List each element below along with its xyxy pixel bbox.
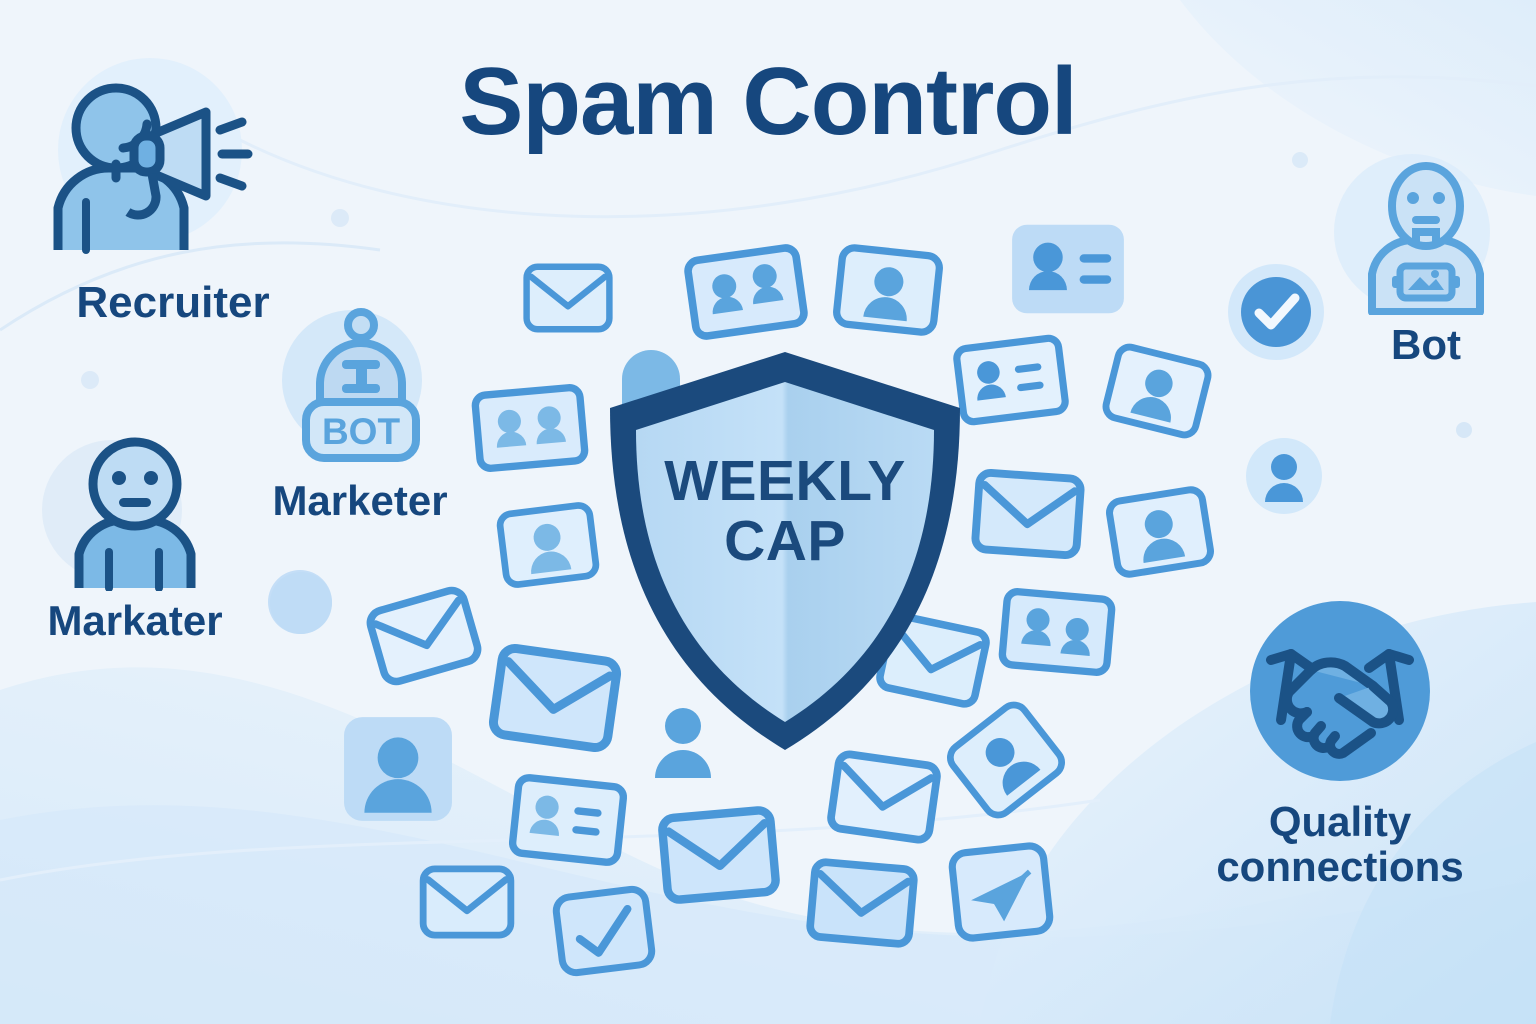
person-with-megaphone-icon xyxy=(28,70,318,275)
robot-with-badge-icon xyxy=(1336,150,1516,320)
persona-markater-label: Markater xyxy=(20,598,250,643)
avatar-card-icon xyxy=(1101,478,1218,585)
persona-recruiter: Recruiter xyxy=(28,70,318,327)
bot-robot-icon: BOT xyxy=(240,306,480,476)
check-card-icon xyxy=(549,882,659,980)
avatar-card-icon xyxy=(342,714,454,824)
persona-bot-label: Bot xyxy=(1336,322,1516,367)
envelope-icon xyxy=(361,581,488,692)
persona-markater: Markater xyxy=(20,436,250,643)
weekly-cap-shield: WEEKLY CAP xyxy=(592,344,978,760)
bot-badge-text: BOT xyxy=(322,411,401,452)
avatar-card-icon xyxy=(1097,335,1218,447)
handshake-icon xyxy=(1190,598,1490,789)
envelope-icon xyxy=(522,262,614,334)
shield-icon xyxy=(592,344,978,760)
persona-marketer: BOT Marketer xyxy=(240,306,480,523)
id-card-icon xyxy=(1010,222,1126,316)
persona-quality-label-line1: Quality xyxy=(1269,798,1411,845)
person-avatar-icon xyxy=(20,436,250,596)
envelope-icon xyxy=(652,803,786,908)
envelope-icon xyxy=(802,855,921,950)
contact-card-two-people-icon xyxy=(680,240,811,344)
decorative-circle xyxy=(270,572,332,634)
send-plane-icon xyxy=(945,839,1056,945)
envelope-icon xyxy=(418,864,516,940)
avatar-circle-icon xyxy=(1244,436,1324,516)
illustration-canvas: Spam Control xyxy=(0,0,1536,1024)
envelope-icon xyxy=(823,747,946,848)
contact-card-two-people-icon xyxy=(469,381,592,475)
persona-quality-connections: Quality connections xyxy=(1190,598,1490,890)
check-circle-icon xyxy=(1226,262,1326,362)
persona-quality-label: Quality connections xyxy=(1190,799,1490,890)
id-card-icon xyxy=(506,770,631,870)
envelope-icon xyxy=(965,466,1091,562)
persona-quality-label-line2: connections xyxy=(1216,843,1463,890)
avatar-card-icon xyxy=(830,241,947,340)
avatar-card-icon xyxy=(493,494,603,596)
persona-bot: Bot xyxy=(1336,150,1516,367)
contact-card-two-people-icon xyxy=(995,585,1120,679)
persona-marketer-label: Marketer xyxy=(240,478,480,523)
